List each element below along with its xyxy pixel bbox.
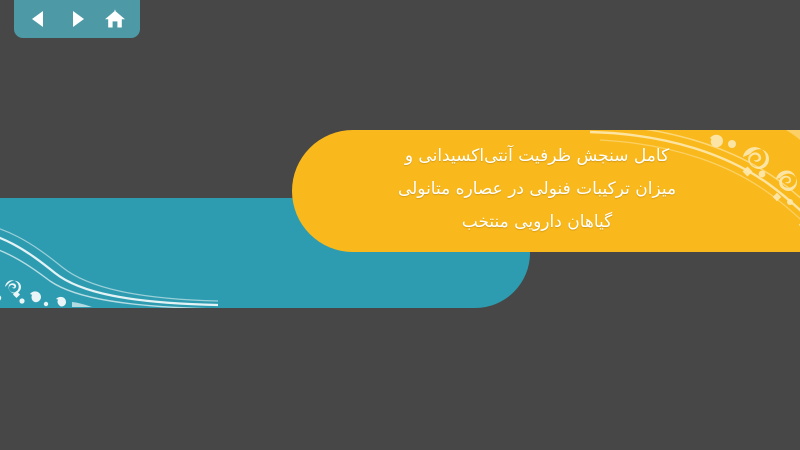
slide-title: کامل سنجش ظرفیت آنتی‌اکسیدانی و میزان تر…: [352, 140, 722, 239]
arabesque-ornament: [0, 198, 220, 308]
title-line-1: کامل سنجش ظرفیت آنتی‌اکسیدانی و: [352, 140, 722, 173]
slide-viewer: کامل سنجش ظرفیت آنتی‌اکسیدانی و میزان تر…: [0, 0, 800, 450]
slide-navigation-bar: [14, 0, 140, 38]
title-line-3: گیاهان دارویی منتخب: [352, 206, 722, 239]
previous-slide-button[interactable]: [24, 4, 54, 34]
forward-arrow-icon: [66, 8, 88, 30]
title-banner: کامل سنجش ظرفیت آنتی‌اکسیدانی و میزان تر…: [292, 130, 800, 252]
back-arrow-icon: [28, 8, 50, 30]
next-slide-button[interactable]: [62, 4, 92, 34]
home-button[interactable]: [100, 4, 130, 34]
title-line-2: میزان ترکیبات فنولی در عصاره متانولی: [352, 173, 722, 206]
home-icon: [103, 7, 127, 31]
